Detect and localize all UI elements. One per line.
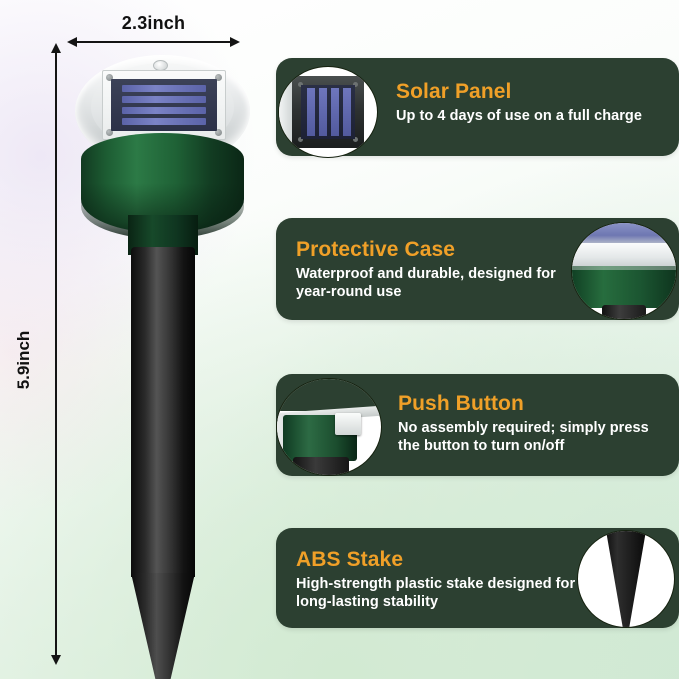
thumb-cell-strip — [307, 88, 315, 136]
feature-card-abs-stake: ABS Stake High-strength plastic stake de… — [276, 528, 679, 628]
thumb-stake-point — [604, 530, 648, 628]
feature-title: Protective Case — [296, 238, 566, 262]
abs-stake-tip — [131, 573, 195, 679]
solar-cell-strip — [122, 96, 207, 103]
feature-text-block: Push Button No assembly required; simply… — [398, 392, 668, 456]
feature-title: ABS Stake — [296, 548, 586, 572]
thumb-case-edge — [571, 266, 677, 270]
thumb-cell-strip — [343, 88, 351, 136]
push-button-closeup-thumbnail — [276, 378, 382, 476]
product-image — [70, 55, 260, 655]
feature-title: Solar Panel — [396, 80, 665, 104]
feature-card-push-button: Push Button No assembly required; simply… — [276, 374, 679, 476]
protective-case-closeup-thumbnail — [571, 222, 677, 320]
height-dimension-arrow — [55, 52, 57, 656]
feature-description: Up to 4 days of use on a full charge — [396, 107, 665, 126]
abs-stake-tip-closeup-thumbnail — [577, 530, 675, 628]
feature-text-block: Solar Panel Up to 4 days of use on a ful… — [396, 80, 665, 125]
thumb-stake-top — [293, 457, 349, 476]
thumb-stake-top — [602, 305, 646, 320]
solar-cell-strip — [122, 118, 207, 125]
solar-panel-closeup-thumbnail — [278, 66, 378, 158]
feature-card-solar-panel: Solar Panel Up to 4 days of use on a ful… — [276, 58, 679, 156]
thumb-panel-bezel — [292, 76, 364, 148]
feature-text-block: Protective Case Waterproof and durable, … — [296, 238, 566, 302]
feature-text-block: ABS Stake High-strength plastic stake de… — [296, 548, 586, 612]
abs-stake-shaft — [131, 247, 195, 577]
solar-cell-strip — [122, 85, 207, 92]
thumb-cell-strip — [331, 88, 339, 136]
width-dimension-label: 2.3inch — [76, 13, 231, 34]
thumb-panel-face — [301, 85, 355, 139]
thumb-lens-edge — [279, 67, 293, 157]
feature-description: Waterproof and durable, designed for yea… — [296, 265, 566, 302]
thumb-case-body — [571, 266, 677, 308]
feature-card-protective-case: Protective Case Waterproof and durable, … — [276, 218, 679, 320]
height-dimension-label: 5.9inch — [14, 310, 34, 410]
solar-panel-frame — [102, 70, 226, 140]
feature-description: No assembly required; simply press the b… — [398, 419, 668, 456]
thumb-cell-strip — [319, 88, 327, 136]
solar-cell-strip — [122, 107, 207, 114]
feature-title: Push Button — [398, 392, 668, 416]
solar-panel — [111, 79, 217, 131]
feature-description: High-strength plastic stake designed for… — [296, 575, 586, 612]
push-button-icon — [335, 413, 361, 435]
infographic-canvas: 2.3inch 5.9inch — [0, 0, 679, 679]
width-dimension-arrow — [76, 41, 231, 43]
